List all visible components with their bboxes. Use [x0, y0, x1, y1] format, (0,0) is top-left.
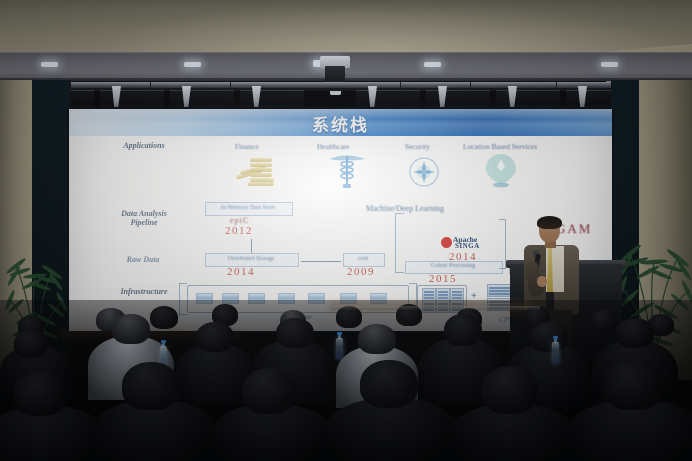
caduceus-icon: [325, 151, 369, 189]
ml-group-label: Machine/Deep Learning: [366, 204, 444, 213]
shield-icon: [406, 155, 442, 189]
audience-head: [358, 324, 396, 354]
audience-area: [0, 300, 692, 461]
speaker-hand: [537, 276, 547, 287]
coins-icon: [236, 156, 278, 186]
ceiling-downlight: [184, 62, 201, 67]
water-bottle: [336, 338, 343, 360]
conference-photo-scene: 系统栈 Applications Data Analysis Pipeline …: [0, 0, 692, 461]
rig-cable: [556, 80, 557, 92]
audience-head: [590, 310, 616, 332]
rig-cable: [470, 80, 471, 92]
row-label-data-analysis-pipeline-line2: Pipeline: [109, 218, 179, 228]
pipeline-label-cohort-processing: Cohort Processing: [405, 263, 501, 269]
app-column-label-healthcare: Healthcare: [317, 142, 349, 151]
row-label-applications: Applications: [113, 141, 175, 151]
audience-head: [616, 318, 654, 348]
water-bottle: [552, 342, 559, 364]
visualization-bracket: [499, 219, 506, 269]
slide-title: 系统栈: [69, 111, 612, 136]
apache-singa-logo: Apache SINGA: [441, 235, 499, 251]
audience-head: [14, 330, 48, 358]
audience-head-front: [122, 362, 180, 410]
pipeline-label-distributed-storage: Distributed Storage: [205, 256, 297, 262]
rig-cable: [400, 80, 401, 92]
soffit-edge: [0, 78, 692, 81]
ceiling-downlight: [601, 62, 618, 67]
rig-cable: [150, 80, 151, 92]
pipeline-name-epic: epiC: [230, 216, 249, 225]
rig-cable: [230, 80, 231, 92]
speaker-hair: [537, 216, 562, 229]
audience-head: [112, 314, 150, 344]
audience-head: [444, 314, 482, 346]
ml-group-bracket: [395, 213, 404, 273]
bottle-cap: [337, 332, 342, 335]
ceiling-downlight: [41, 62, 58, 67]
bottle-cap: [161, 340, 166, 343]
audience-head-front: [482, 366, 538, 414]
audience-head-front: [242, 368, 296, 414]
audience-head: [150, 306, 178, 329]
pipeline-label-epic-store: In-Memory Data Store: [205, 205, 291, 211]
pipeline-year-epic: 2012: [225, 225, 253, 237]
audience-head-front: [360, 360, 418, 408]
app-column-label-security: Security: [405, 142, 430, 151]
app-column-label-finance: Finance: [235, 142, 259, 151]
row-label-raw-data: Raw Data: [113, 255, 173, 265]
audience-head-front: [604, 362, 662, 410]
pipeline-year-storage: 2014: [227, 266, 255, 278]
pipeline-connector: [251, 239, 252, 253]
pipeline-label-conf: conf: [343, 256, 383, 262]
rig-cable: [70, 80, 71, 92]
app-column-label-location-based-services: Location Based Services: [463, 142, 537, 151]
map-pin-icon: [482, 151, 520, 189]
ceiling-upper-wall: [0, 0, 692, 52]
audience-head-front: [14, 372, 66, 416]
audience-head: [530, 322, 568, 352]
cohort-year: 2015: [429, 273, 457, 285]
pipeline-connector: [301, 261, 341, 262]
row-label-infrastructure: Infrastructure: [107, 287, 181, 297]
singa-name-label: SINGA: [455, 242, 480, 250]
pipeline-year-conf: 2009: [347, 266, 375, 278]
bottle-cap: [553, 336, 558, 339]
audience-head: [196, 322, 234, 352]
table-edge: [330, 306, 540, 310]
apache-feather-icon: [441, 237, 452, 248]
audience-head: [276, 318, 314, 348]
ceiling-downlight: [424, 62, 441, 67]
